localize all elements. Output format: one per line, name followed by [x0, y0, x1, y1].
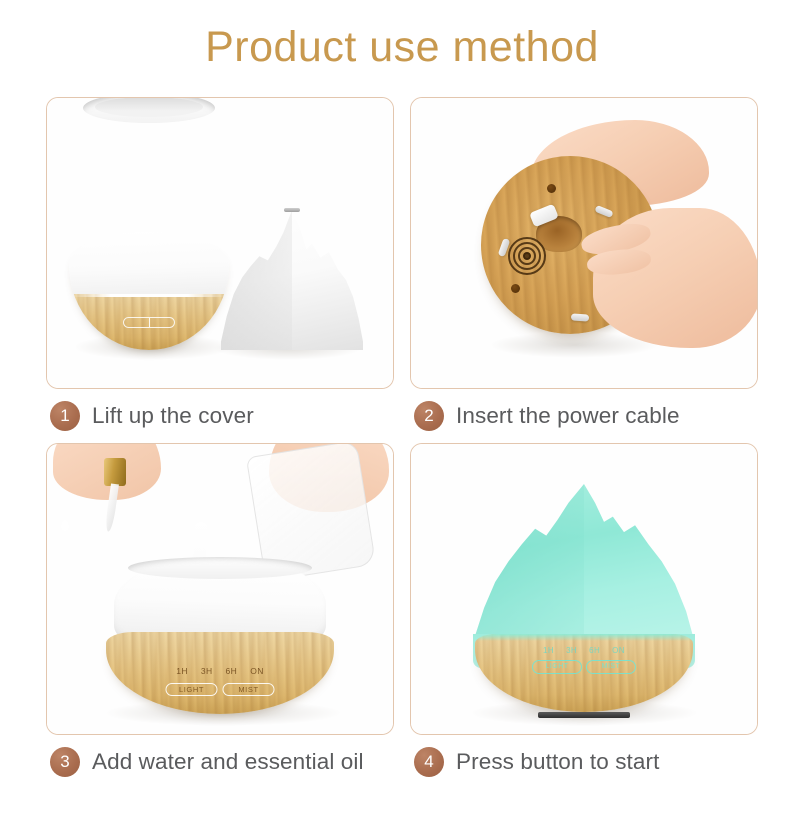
- mist-button[interactable]: MIST: [223, 683, 275, 696]
- base-water-tank-opening: [95, 97, 203, 117]
- step-4-caption-row: 4 Press button to start: [414, 740, 659, 784]
- diffuser-assembled-glowing: 1H 3H 6H ON LIGHT MIST: [473, 484, 695, 716]
- mist-button[interactable]: MIST: [586, 660, 636, 674]
- step-card-1: 1 Lift up the cover: [46, 97, 394, 443]
- step-3-product-illustration: 1H 3H 6H ON LIGHT MIST: [47, 444, 393, 734]
- light-button[interactable]: LIGHT: [166, 683, 218, 696]
- timer-label-6h: 6H: [589, 646, 600, 655]
- mist-outlet-nozzle: [284, 208, 300, 212]
- step-card-2: 2 Insert the power cable: [410, 97, 758, 443]
- fan-vent-icon: [507, 236, 547, 276]
- rubber-foot-bottom: [571, 313, 589, 321]
- step-2-caption-text: Insert the power cable: [456, 403, 680, 429]
- timer-label-on: ON: [250, 666, 264, 676]
- step-3-photo-frame: 1H 3H 6H ON LIGHT MIST: [46, 443, 394, 735]
- diffuser-base-open: [69, 232, 229, 350]
- step-1-number-badge: 1: [50, 401, 80, 431]
- timer-label-6h: 6H: [226, 666, 238, 676]
- timer-label-on: ON: [612, 646, 625, 655]
- step-2-number-badge: 2: [414, 401, 444, 431]
- diffuser-base-open-filling: 1H 3H 6H ON LIGHT MIST: [106, 560, 334, 720]
- base-open-rim: [83, 97, 215, 123]
- timer-label-3h: 3H: [201, 666, 213, 676]
- step-1-caption-text: Lift up the cover: [92, 403, 254, 429]
- timer-label-row: 1H 3H 6H ON: [176, 666, 264, 676]
- dropper-glass-tube: [104, 483, 119, 532]
- step-card-3: 1H 3H 6H ON LIGHT MIST: [46, 443, 394, 789]
- step-2-caption-row: 2 Insert the power cable: [414, 394, 680, 438]
- timer-label-row: 1H 3H 6H ON: [543, 646, 625, 655]
- screw-hole-top: [547, 184, 556, 193]
- step-1-caption-row: 1 Lift up the cover: [50, 394, 254, 438]
- dropper-gold-cap: [104, 458, 126, 486]
- step-3-number-badge: 3: [50, 747, 80, 777]
- base-wood-lower: 1H 3H 6H ON LIGHT MIST: [475, 634, 693, 712]
- product-use-method-infographic: Product use method: [0, 0, 804, 823]
- timer-label-1h: 1H: [176, 666, 188, 676]
- step-3-caption-text: Add water and essential oil: [92, 749, 364, 775]
- step-4-caption-text: Press button to start: [456, 749, 659, 775]
- oil-droplet: [61, 520, 69, 531]
- step-2-photo-frame: [410, 97, 758, 389]
- screw-hole-left: [511, 284, 520, 293]
- control-button-row: LIGHT MIST: [166, 683, 275, 696]
- base-control-buttons: [123, 317, 175, 328]
- light-button[interactable]: LIGHT: [532, 660, 582, 674]
- control-button-row: LIGHT MIST: [532, 660, 636, 674]
- base-foot-strip: [538, 712, 630, 718]
- timer-label-1h: 1H: [543, 646, 554, 655]
- base-seam-line: [71, 294, 227, 297]
- step-card-4: 1H 3H 6H ON LIGHT MIST: [410, 443, 758, 789]
- mountain-lid-cover: [221, 210, 363, 350]
- base-open-rim: [128, 557, 312, 579]
- timer-label-3h: 3H: [566, 646, 577, 655]
- page-title: Product use method: [0, 24, 804, 71]
- glow-edge-highlight: [475, 634, 693, 641]
- step-2-product-illustration: [411, 98, 757, 388]
- steps-grid: 1 Lift up the cover: [46, 97, 758, 787]
- step-3-caption-row: 3 Add water and essential oil: [50, 740, 364, 784]
- step-1-product-illustration: [47, 98, 393, 388]
- step-4-photo-frame: 1H 3H 6H ON LIGHT MIST: [410, 443, 758, 735]
- step-1-photo-frame: [46, 97, 394, 389]
- base-wood-lower: 1H 3H 6H ON LIGHT MIST: [106, 632, 334, 714]
- essential-oil-dropper: [103, 458, 127, 544]
- step-4-product-illustration: 1H 3H 6H ON LIGHT MIST: [411, 444, 757, 734]
- step-4-number-badge: 4: [414, 747, 444, 777]
- base-white-upper: [69, 232, 229, 298]
- rubber-foot-top: [594, 205, 613, 218]
